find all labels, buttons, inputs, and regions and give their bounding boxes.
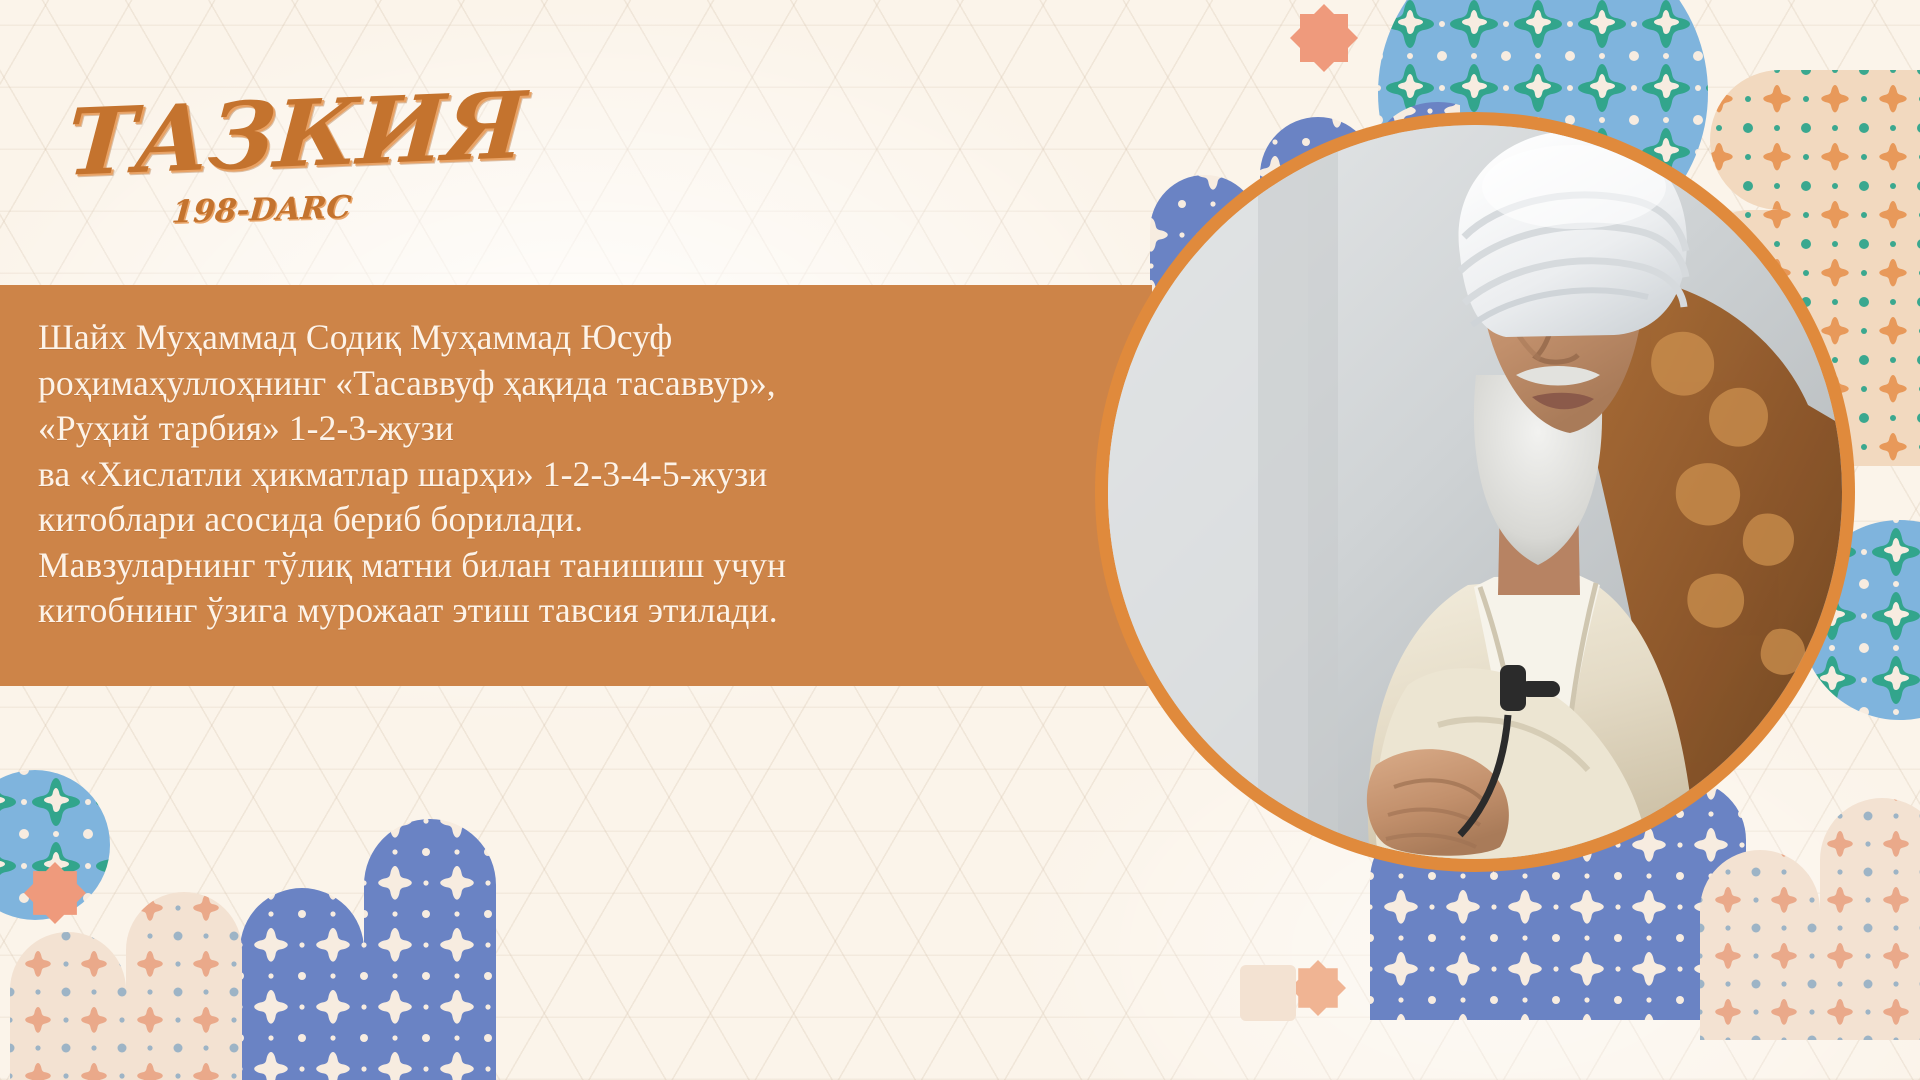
banner-canvas: ТАЗКИЯ 198-DARC Шайх Муҳаммад Содиқ Муҳа… — [0, 0, 1920, 1080]
description-panel: Шайх Муҳаммад Содиқ Муҳаммад Юсуф роҳима… — [0, 285, 1152, 686]
ornament-salmon-star-bottom-left — [24, 862, 86, 924]
logo: ТАЗКИЯ 198-DARC — [60, 80, 580, 260]
portrait-photo — [1108, 125, 1842, 859]
logo-wordmark: ТАЗКИЯ — [64, 71, 528, 196]
ornament-peach-square-bottom-mid — [1240, 965, 1296, 1021]
logo-lesson-number: 198-DARC — [170, 190, 352, 231]
ornament-salmon-star — [1290, 4, 1358, 72]
ornament-salmon-star-bottom-mid — [1290, 960, 1346, 1016]
description-text: Шайх Муҳаммад Содиқ Муҳаммад Юсуф роҳима… — [38, 315, 1128, 634]
portrait-ring — [1095, 112, 1855, 872]
